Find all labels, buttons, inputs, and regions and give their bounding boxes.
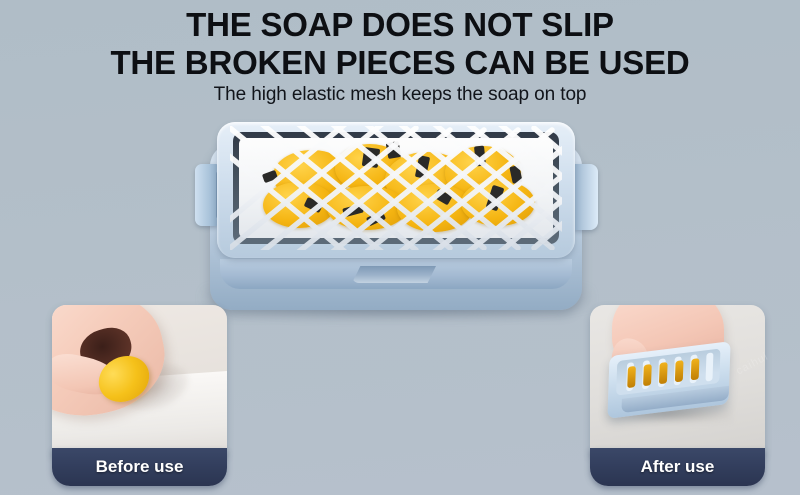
soap-dish-front-notch	[352, 266, 436, 283]
dish-slot	[706, 352, 714, 381]
after-use-label-bar: After use	[590, 448, 765, 486]
soap-piece	[627, 366, 636, 388]
after-use-label-text: After use	[641, 457, 715, 477]
soap-piece	[659, 362, 668, 384]
soap-dish-left-clip	[195, 164, 219, 226]
headline-block: THE SOAP DOES NOT SLIP THE BROKEN PIECES…	[0, 8, 800, 79]
headline-line-1: THE SOAP DOES NOT SLIP	[0, 8, 800, 41]
elastic-mesh-net	[230, 126, 562, 250]
before-use-photo	[52, 305, 227, 455]
comparison-card-after: After use	[590, 305, 765, 490]
subtitle: The high elastic mesh keeps the soap on …	[0, 84, 800, 106]
headline-line-2: THE BROKEN PIECES CAN BE USED	[0, 46, 800, 79]
before-scene	[52, 305, 227, 455]
soap-piece	[675, 360, 684, 382]
soap-dish-right-clip	[572, 164, 598, 230]
before-use-label-bar: Before use	[52, 448, 227, 486]
after-scene	[590, 305, 765, 455]
after-use-photo	[590, 305, 765, 455]
soap-piece	[691, 358, 700, 380]
comparison-card-before: Before use	[52, 305, 227, 490]
hero-product-image	[180, 108, 610, 320]
soap-piece	[643, 364, 652, 386]
before-use-label-text: Before use	[96, 457, 184, 477]
